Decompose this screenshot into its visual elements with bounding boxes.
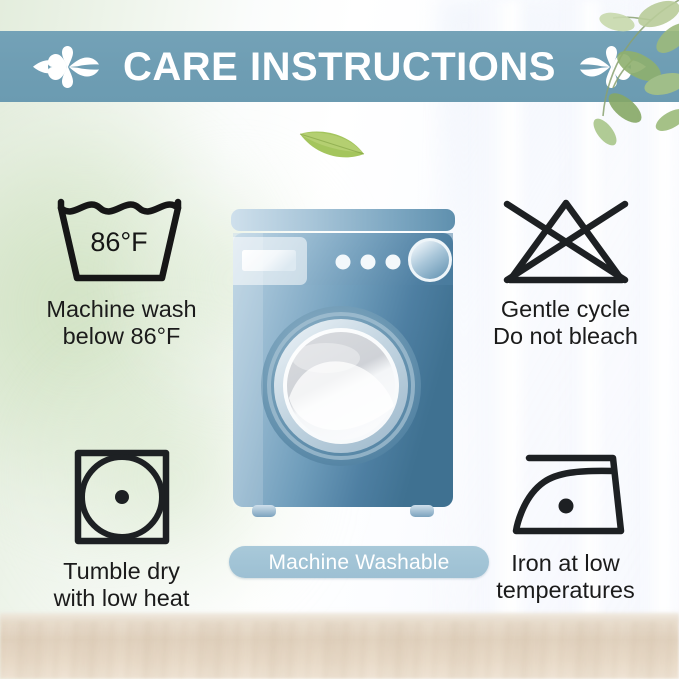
washer-foot-right xyxy=(410,505,434,517)
fleur-de-lis-ornament-right-icon xyxy=(574,44,648,90)
wash-tub-icon: 86°F xyxy=(47,196,197,288)
care-symbol-iron: Iron at low temperatures xyxy=(458,446,673,605)
machine-wash-label: Machine wash below 86°F xyxy=(46,296,196,351)
iron-label: Iron at low temperatures xyxy=(496,550,634,605)
washer-indicator-dot-1 xyxy=(336,255,351,270)
do-not-bleach-triangle-icon xyxy=(491,196,641,288)
tumble-dry-label: Tumble dry with low heat xyxy=(54,558,190,613)
front-load-washing-machine xyxy=(228,206,458,532)
machine-washable-badge-label: Machine Washable xyxy=(268,552,449,573)
machine-washable-badge: Machine Washable xyxy=(229,546,489,578)
washer-left-shade xyxy=(233,233,263,507)
care-symbol-do-not-bleach: Gentle cycle Do not bleach xyxy=(458,196,673,351)
care-symbol-machine-wash: 86°F Machine wash below 86°F xyxy=(14,196,229,351)
washer-indicator-dot-2 xyxy=(361,255,376,270)
page-title: CARE INSTRUCTIONS xyxy=(123,47,556,87)
header-banner: CARE INSTRUCTIONS xyxy=(0,31,679,102)
fleur-de-lis-ornament-left-icon xyxy=(31,44,105,90)
wooden-table-grain xyxy=(0,621,679,679)
washer-dial xyxy=(411,241,449,279)
washer-foot-left xyxy=(252,505,276,517)
care-symbol-tumble-dry: Tumble dry with low heat xyxy=(14,446,229,613)
care-instructions-infographic: CARE INSTRUCTIONS xyxy=(0,0,679,679)
tumble-dry-low-icon xyxy=(63,446,181,550)
do-not-bleach-label: Gentle cycle Do not bleach xyxy=(493,296,638,351)
iron-low-temperature-icon xyxy=(499,446,633,542)
washer-top-lid xyxy=(231,209,455,231)
washer-door-glare xyxy=(292,343,360,373)
wash-temperature-value: 86°F xyxy=(90,227,147,257)
washer-indicator-dot-3 xyxy=(386,255,401,270)
